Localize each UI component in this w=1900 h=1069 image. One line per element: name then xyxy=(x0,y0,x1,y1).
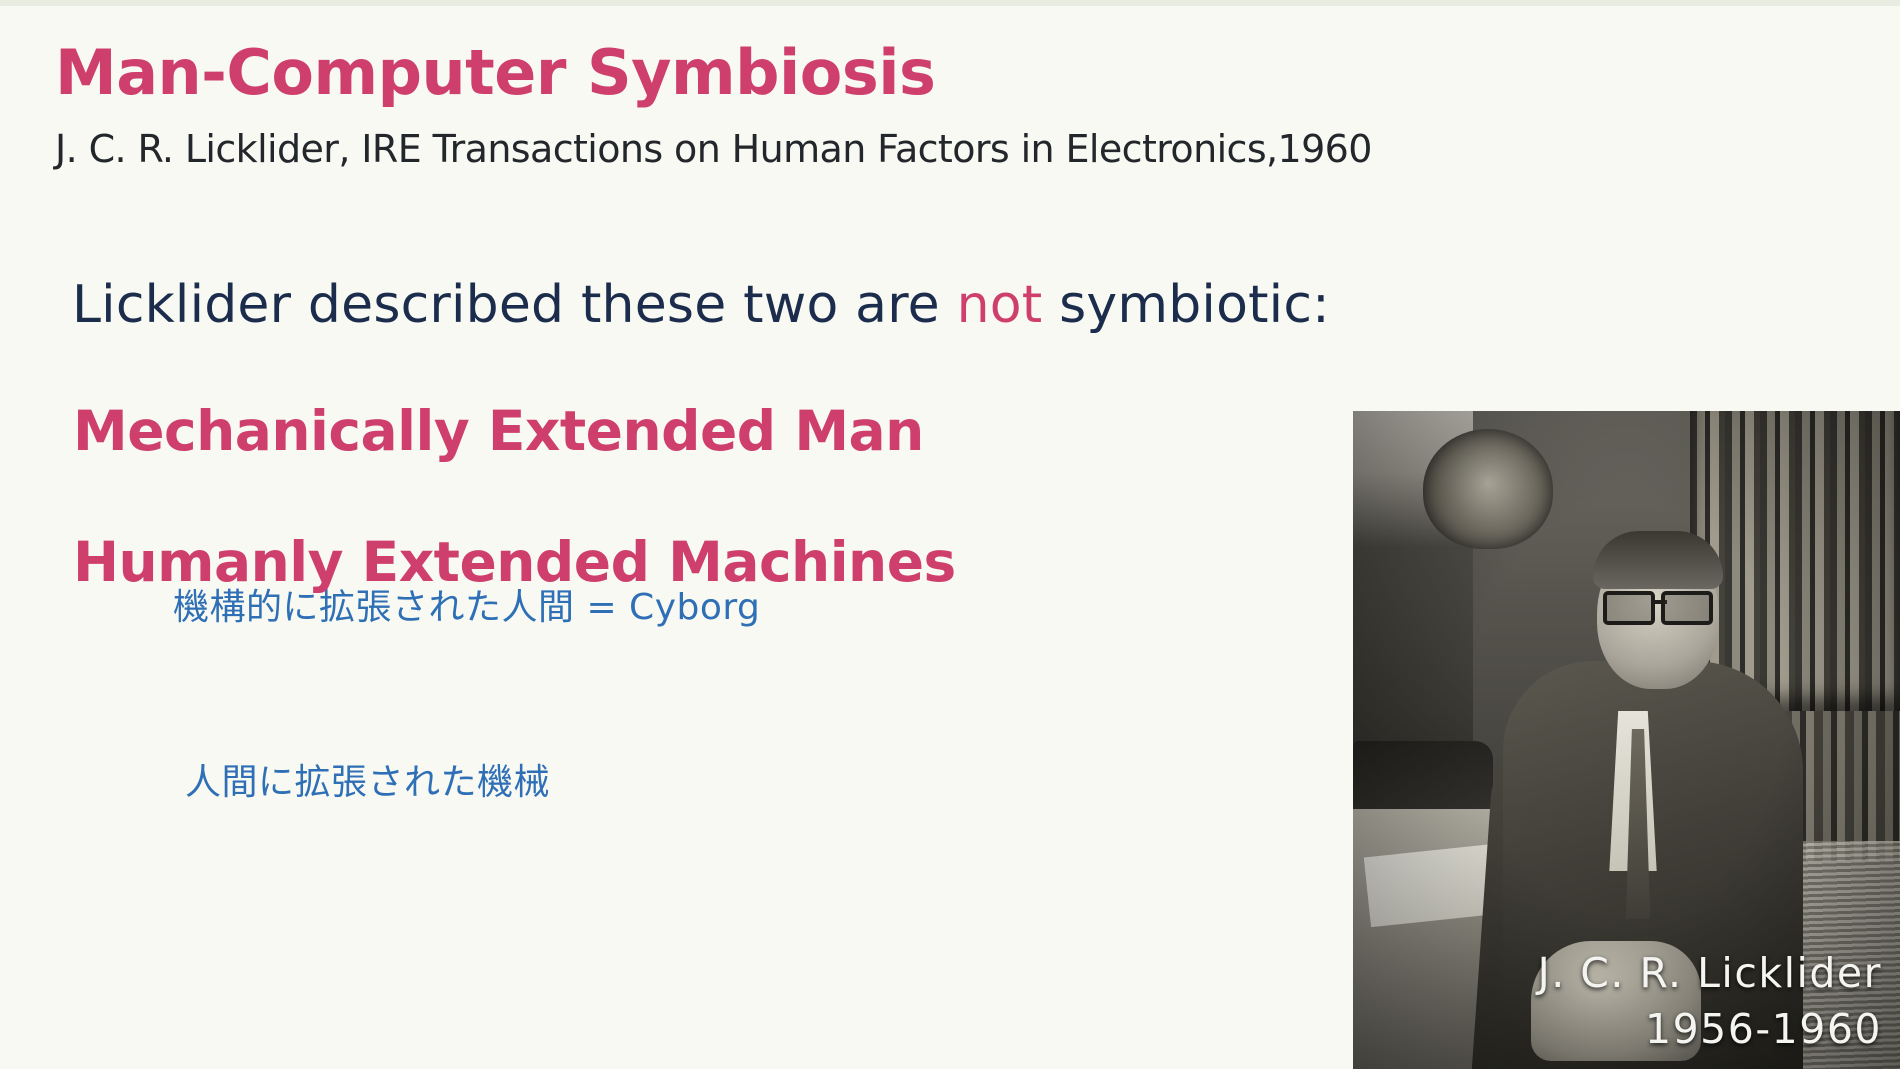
lead-text-after: symbiotic: xyxy=(1042,275,1329,335)
slide-title: Man-Computer Symbiosis xyxy=(55,36,935,109)
lead-text-before: Licklider described these two are xyxy=(72,275,957,335)
licklider-photo: J. C. R. Licklider 1956-1960 xyxy=(1353,411,1900,1069)
photo-caption-years: 1956-1960 xyxy=(1371,1005,1882,1053)
concept-heading-humanly-extended-machines: Humanly Extended Machines xyxy=(73,530,956,594)
photo-caption-name: J. C. R. Licklider xyxy=(1371,949,1882,997)
presentation-slide: Man-Computer Symbiosis J. C. R. Licklide… xyxy=(0,0,1900,1069)
lead-emphasis-not: not xyxy=(957,275,1043,335)
slide-subtitle-citation: J. C. R. Licklider, IRE Transactions on … xyxy=(55,127,1372,171)
lead-sentence: Licklider described these two are not sy… xyxy=(72,275,1330,335)
concept-heading-mechanically-extended-man: Mechanically Extended Man xyxy=(73,399,924,463)
concept-translation-humanly-extended-machines: 人間に拡張された機械 xyxy=(185,753,550,805)
